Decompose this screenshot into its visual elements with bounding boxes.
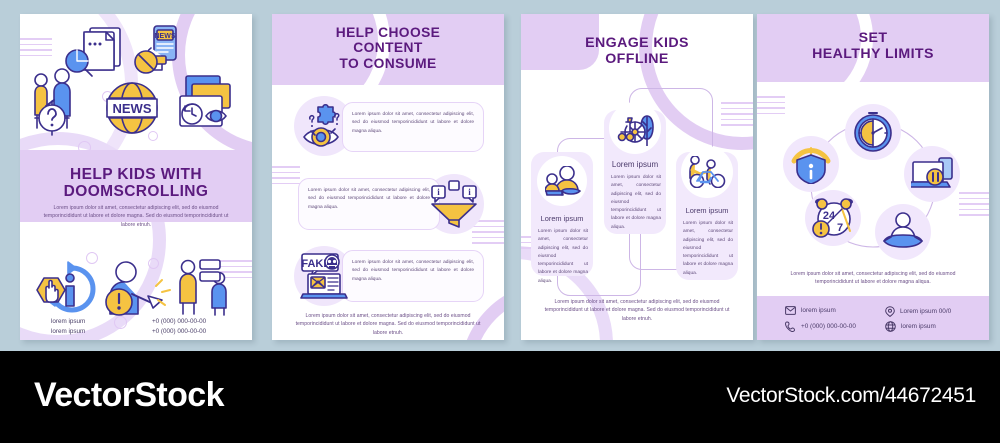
watermark-bar: VectorStock VectorStock.com/44672451 bbox=[0, 351, 1000, 443]
row1-card: Lorem ipsum dolor sit amet, consectetur … bbox=[342, 102, 484, 152]
flyer-panel-1: NEWS NEWS bbox=[20, 14, 252, 340]
panel4-contact-band bbox=[757, 296, 989, 340]
bicycle-riding-icon bbox=[688, 156, 726, 188]
meditation-icon bbox=[881, 212, 925, 252]
contact-website[interactable]: lorem ipsum bbox=[885, 321, 936, 332]
row3-text: Lorem ipsum dolor sit amet, consectetur … bbox=[343, 251, 483, 284]
playground-tree-icon bbox=[617, 112, 655, 146]
svg-text:NEWS: NEWS bbox=[113, 101, 152, 116]
flyer-panel-2: HELP CHOOSE CONTENT TO CONSUME Lorem ips… bbox=[272, 14, 504, 340]
panel3-title-line-1: ENGAGE KIDS bbox=[521, 36, 753, 52]
panel1-title-line-2: DOOMSCROLLING bbox=[20, 183, 252, 200]
eye-puzzle-question-icon bbox=[301, 103, 347, 149]
flyer-panel-4: SET HEALTHY LIMITS bbox=[757, 14, 989, 340]
panel1-title: HELP KIDS WITH DOOMSCROLLING bbox=[20, 166, 252, 201]
panel2-blurb: Lorem ipsum dolor sit amet, consectetur … bbox=[292, 312, 484, 337]
decor-dot bbox=[114, 316, 127, 329]
envelope-icon bbox=[785, 306, 796, 315]
step-1-heading: Lorem ipsum bbox=[531, 214, 593, 223]
shield-wifi-info-icon bbox=[790, 144, 832, 184]
panel2-title: HELP CHOOSE CONTENT TO CONSUME bbox=[272, 25, 504, 71]
reading-book-icon bbox=[545, 166, 581, 198]
information-funnel-icon: i i bbox=[430, 180, 478, 228]
contact-email[interactable]: lorem ipsum bbox=[785, 306, 836, 315]
decor-lines bbox=[959, 192, 989, 216]
row2-text: Lorem ipsum dolor sit amet, consectetur … bbox=[299, 179, 439, 212]
step-3-text: Lorem ipsum dolor sit amet, consectetur … bbox=[683, 220, 733, 278]
step-2-text: Lorem ipsum dolor sit amet, consectetur … bbox=[611, 174, 661, 232]
panel3-blurb: Lorem ipsum dolor sit amet, consectetur … bbox=[543, 298, 731, 323]
contact-address-label: Lorem ipsum 00/0 bbox=[900, 308, 951, 315]
panel2-title-line-2: CONTENT bbox=[272, 40, 504, 55]
row1-text: Lorem ipsum dolor sit amet, consectetur … bbox=[343, 103, 483, 136]
panel1-footer-right: +0 (000) 000-00-00 +0 (000) 000-00-00 bbox=[152, 317, 206, 337]
step-2-heading: Lorem ipsum bbox=[604, 160, 666, 169]
panel1-footer-left: lorem ipsum lorem ipsum bbox=[51, 317, 85, 337]
step-1-text: Lorem ipsum dolor sit amet, consectetur … bbox=[538, 228, 588, 286]
panel4-title-line-1: SET bbox=[757, 31, 989, 47]
clock-timer-icon bbox=[853, 112, 893, 152]
panel3-title-line-2: OFFLINE bbox=[521, 52, 753, 68]
panel3-title: ENGAGE KIDS OFFLINE bbox=[521, 36, 753, 68]
step-3-heading: Lorem ipsum bbox=[676, 206, 738, 215]
panel2-title-line-1: HELP CHOOSE bbox=[272, 25, 504, 40]
alarm-24-7-icon: 24 7 bbox=[812, 197, 854, 239]
contact-address[interactable]: Lorem ipsum 00/0 bbox=[885, 306, 951, 317]
contact-website-label: lorem ipsum bbox=[901, 323, 936, 330]
contact-email-label: lorem ipsum bbox=[801, 307, 836, 314]
panel4-blurb: Lorem ipsum dolor sit amet, consectetur … bbox=[779, 270, 967, 287]
panel1-bottom-illustration bbox=[36, 258, 236, 316]
decor-lines bbox=[757, 96, 785, 114]
decor-lines bbox=[272, 166, 300, 184]
flyer-panel-3: ENGAGE KIDS OFFLINE Lorem ipsum Lorem ip… bbox=[521, 14, 753, 340]
flyer-set: NEWS NEWS bbox=[0, 0, 1000, 351]
vectorstock-url: VectorStock.com/44672451 bbox=[726, 384, 976, 408]
panel2-title-line-3: TO CONSUME bbox=[272, 56, 504, 71]
panel1-top-illustration: NEWS NEWS bbox=[28, 22, 244, 142]
laptop-pause-icon bbox=[911, 157, 953, 191]
panel4-title: SET HEALTHY LIMITS bbox=[757, 31, 989, 63]
row2-card: Lorem ipsum dolor sit amet, consectetur … bbox=[298, 178, 440, 230]
panel1-blurb: Lorem ipsum dolor sit amet, consectetur … bbox=[42, 204, 230, 229]
vectorstock-logo: VectorStock bbox=[34, 376, 224, 415]
svg-text:NEWS: NEWS bbox=[155, 33, 176, 40]
panel4-title-line-2: HEALTHY LIMITS bbox=[757, 47, 989, 63]
phone-icon bbox=[785, 321, 796, 332]
decor-lines bbox=[721, 102, 753, 126]
globe-icon bbox=[885, 321, 896, 332]
row3-card: Lorem ipsum dolor sit amet, consectetur … bbox=[342, 250, 484, 302]
contact-phone[interactable]: +0 (000) 000-00-00 bbox=[785, 321, 856, 332]
contact-phone-label: +0 (000) 000-00-00 bbox=[801, 323, 856, 330]
svg-text:7: 7 bbox=[837, 222, 843, 234]
fake-news-laptop-icon: FAKE bbox=[299, 252, 349, 300]
panel1-title-line-1: HELP KIDS WITH bbox=[20, 166, 252, 183]
location-pin-icon bbox=[885, 306, 895, 317]
